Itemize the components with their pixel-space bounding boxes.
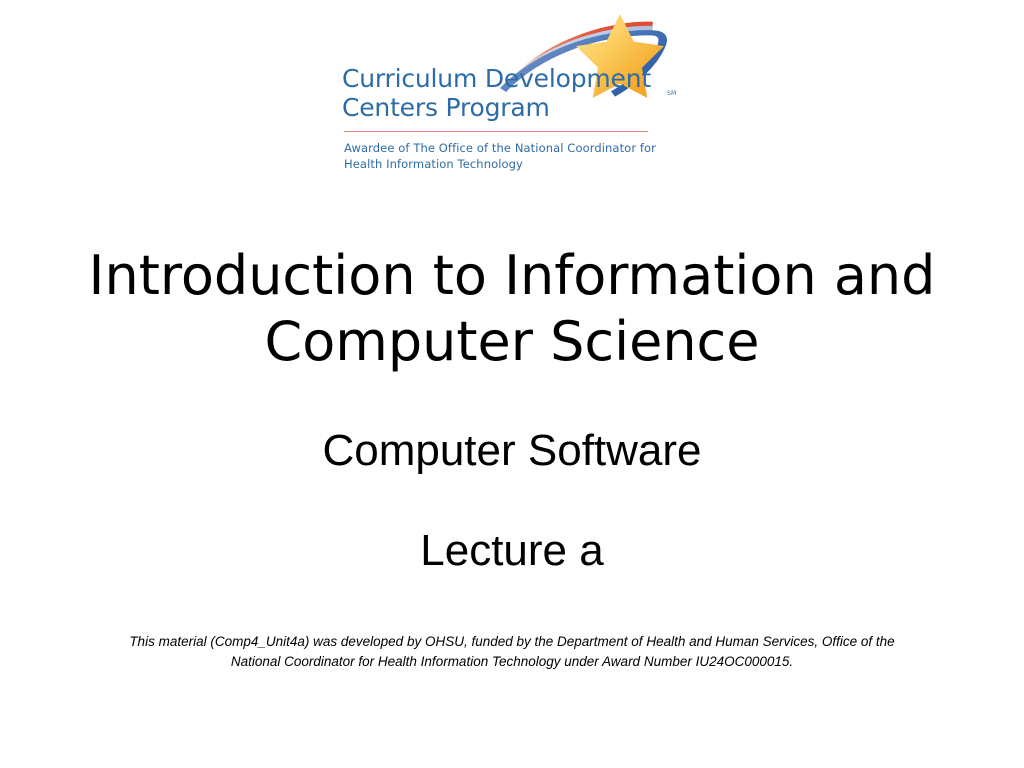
logo-tagline: Awardee of The Office of the National Co… bbox=[344, 140, 674, 172]
logo-tagline-line-2: Health Information Technology bbox=[344, 156, 674, 172]
presentation-title-slide: Curriculum Development Centers Program S… bbox=[0, 0, 1024, 768]
logo-divider-rule bbox=[344, 131, 648, 132]
slide-subtitle: Computer Software bbox=[42, 424, 982, 478]
logo-wordmark-line-2: Centers Program bbox=[342, 93, 642, 122]
service-mark-icon: SM bbox=[667, 90, 676, 97]
slide-title: Introduction to Information and Computer… bbox=[42, 243, 982, 375]
logo-wordmark-line-1: Curriculum Development bbox=[342, 64, 642, 93]
program-logo: Curriculum Development Centers Program S… bbox=[336, 14, 688, 179]
slide-lecture-label: Lecture a bbox=[42, 524, 982, 578]
logo-tagline-line-1: Awardee of The Office of the National Co… bbox=[344, 140, 674, 156]
logo-wordmark: Curriculum Development Centers Program bbox=[342, 64, 642, 122]
funding-disclaimer: This material (Comp4_Unit4a) was develop… bbox=[112, 632, 912, 672]
